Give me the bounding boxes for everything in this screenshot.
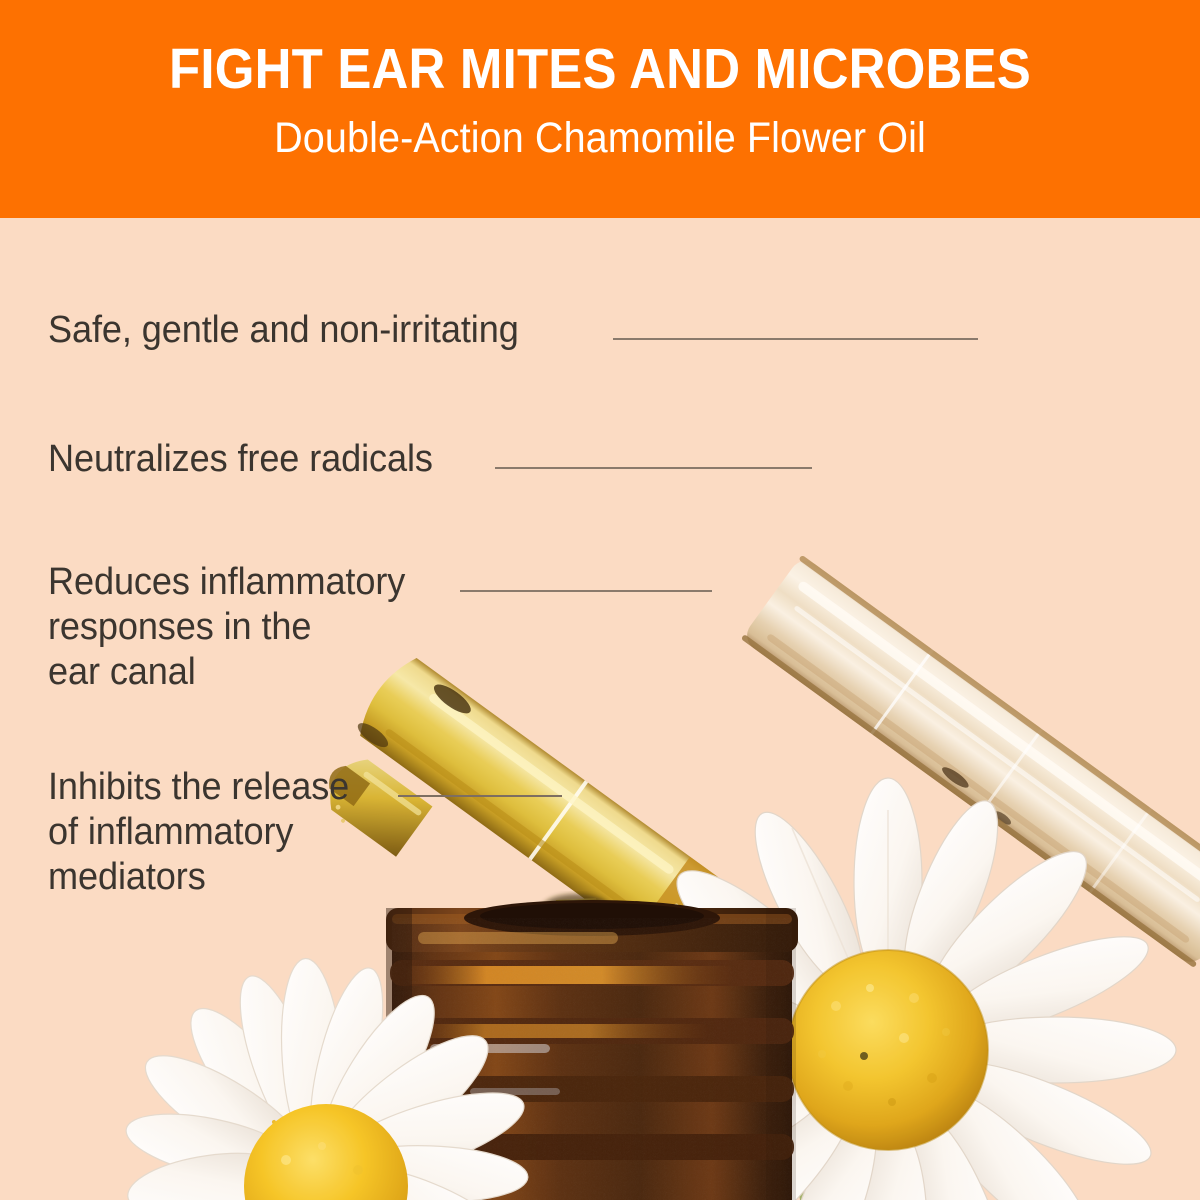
feature-safe-gentle: Safe, gentle and non-irritating	[48, 308, 519, 353]
feature-line: Safe, gentle and non-irritating	[48, 308, 519, 353]
feature-line: ear canal	[48, 650, 405, 695]
product-infographic: FIGHT EAR MITES AND MICROBES Double-Acti…	[0, 0, 1200, 1200]
header-band: FIGHT EAR MITES AND MICROBES Double-Acti…	[0, 0, 1200, 218]
feature-line: of inflammatory	[48, 810, 349, 855]
feature-line: responses in the	[48, 605, 405, 650]
connector-line-safe-gentle	[613, 338, 978, 340]
feature-line: Reduces inflammatory	[48, 560, 405, 605]
connector-line-reduces-inflammatory-responses	[460, 590, 712, 592]
feature-line: Neutralizes free radicals	[48, 437, 433, 482]
feature-neutralizes-free-radicals: Neutralizes free radicals	[48, 437, 433, 482]
feature-reduces-inflammatory-responses: Reduces inflammatory responses in the ea…	[48, 560, 405, 695]
feature-line: mediators	[48, 855, 349, 900]
connector-line-inhibits-release-mediators	[398, 795, 562, 797]
page-subtitle: Double-Action Chamomile Flower Oil	[48, 113, 1152, 163]
page-title: FIGHT EAR MITES AND MICROBES	[63, 38, 1137, 100]
product-artwork	[0, 218, 1200, 1200]
feature-line: Inhibits the release	[48, 765, 349, 810]
feature-inhibits-release-mediators: Inhibits the release of inflammatory med…	[48, 765, 349, 900]
connector-line-neutralizes-free-radicals	[495, 467, 812, 469]
